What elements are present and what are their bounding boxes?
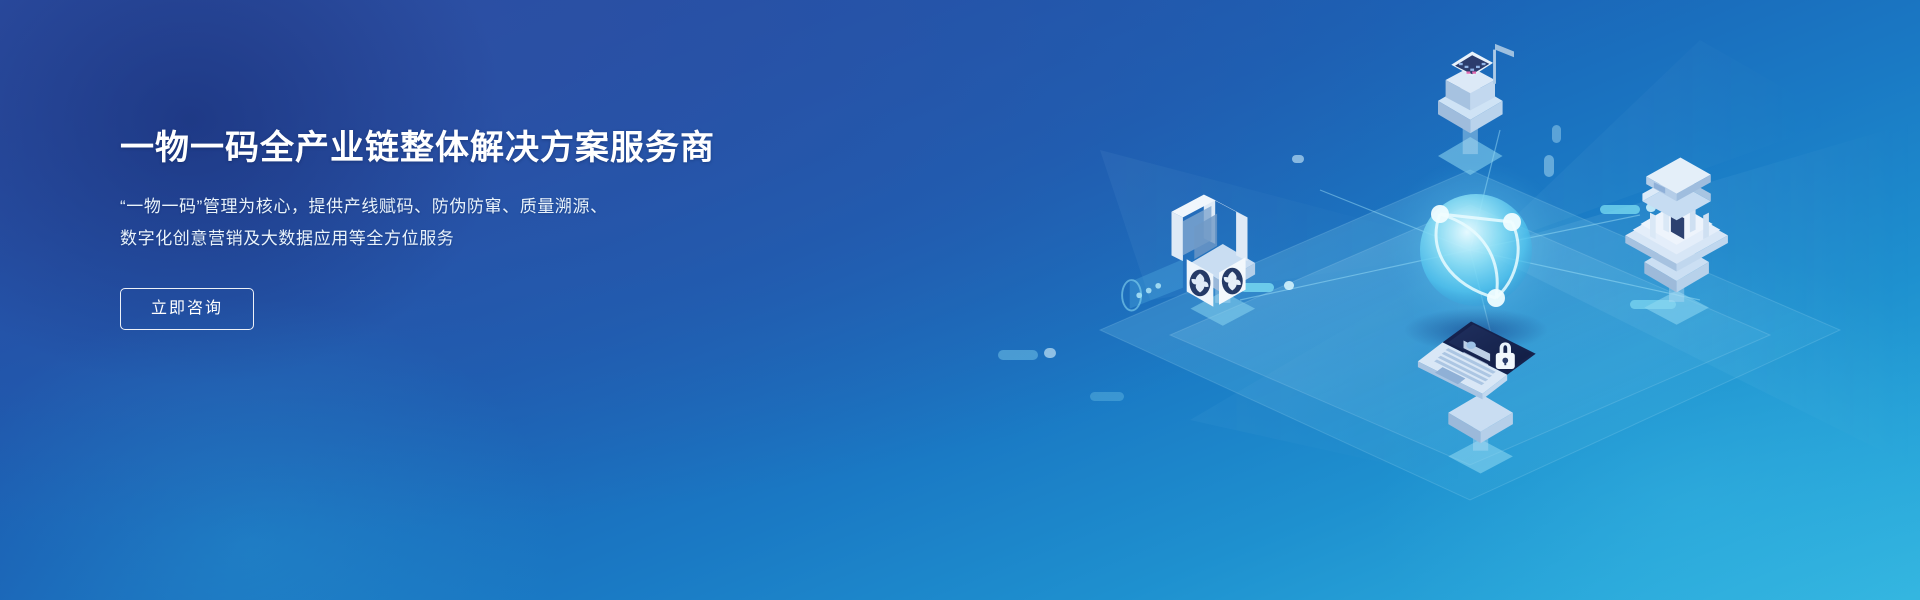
pos-terminal-icon: [1438, 44, 1514, 175]
network-globe-icon: [1384, 158, 1568, 352]
hero-banner: 一物一码全产业链整体解决方案服务商 “一物一码”管理为核心，提供产线赋码、防伪防…: [0, 0, 1920, 600]
floating-pills: [998, 348, 1124, 401]
page-title: 一物一码全产业链整体解决方案服务商: [120, 128, 840, 169]
hero-subtitle-line-1: “一物一码”管理为核心，提供产线赋码、防伪防窜、质量溯源、: [120, 191, 840, 223]
hero-illustration: [940, 0, 1920, 600]
cta-wrapper: 立即咨询: [120, 288, 840, 330]
consult-now-button[interactable]: 立即咨询: [120, 288, 254, 330]
hero-content: 一物一码全产业链整体解决方案服务商 “一物一码”管理为核心，提供产线赋码、防伪防…: [120, 128, 840, 330]
hero-subtitle: “一物一码”管理为核心，提供产线赋码、防伪防窜、质量溯源、 数字化创意营销及大数…: [120, 191, 840, 255]
hero-subtitle-line-2: 数字化创意营销及大数据应用等全方位服务: [120, 223, 840, 255]
